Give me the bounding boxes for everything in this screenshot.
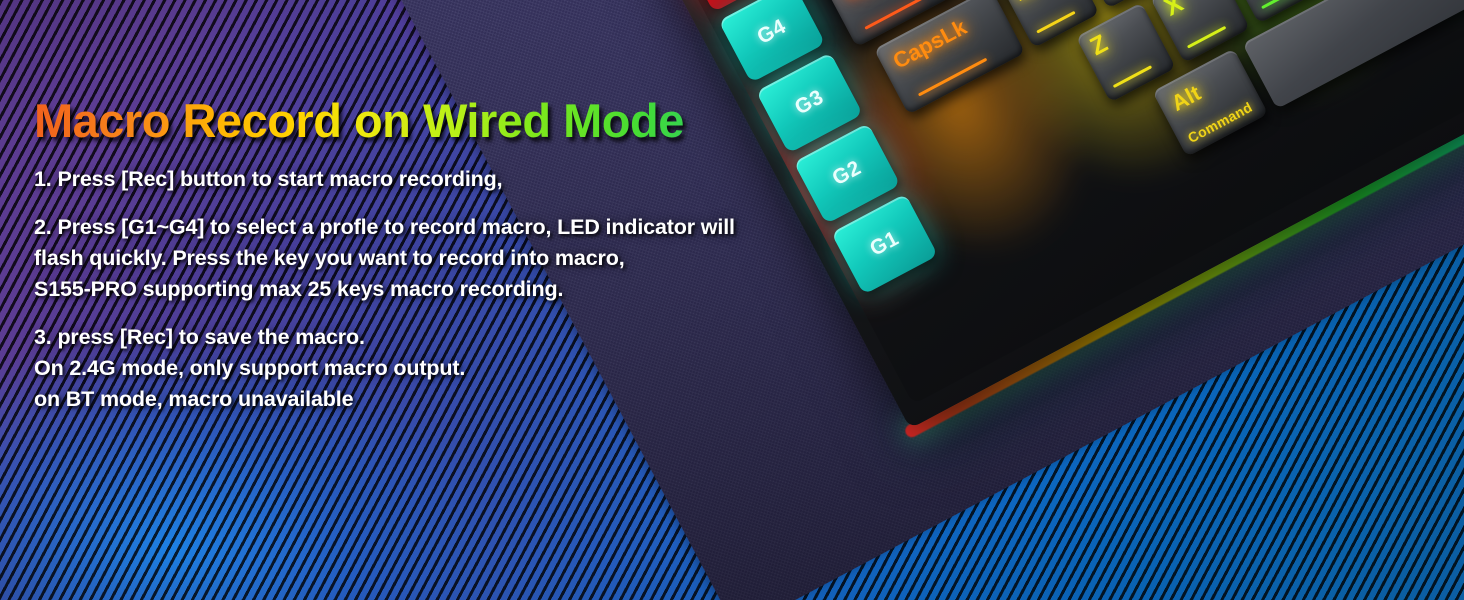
product-banner: Rec G4 G3 G2 G1 ☀ M C→ ☀ ◉▼ Esc ↺ 1! ☀ F… (0, 0, 1464, 600)
key-z-label: Z (1087, 31, 1112, 60)
step-1-line-1: 1. Press [Rec] button to start macro rec… (34, 164, 734, 195)
key-x-label: X (1161, 0, 1187, 21)
instruction-step-2: 2. Press [G1~G4] to select a profle to r… (34, 212, 734, 305)
step-3-line-1: 3. press [Rec] to save the macro. (34, 322, 734, 353)
step-3-line-3: on BT mode, macro unavailable (34, 384, 734, 415)
marketing-copy: Macro Record on Wired Mode 1. Press [Rec… (34, 96, 734, 432)
key-alt-label: Alt (1167, 80, 1205, 117)
page-title: Macro Record on Wired Mode (34, 96, 734, 145)
instruction-step-1: 1. Press [Rec] button to start macro rec… (34, 164, 734, 195)
instruction-step-3: 3. press [Rec] to save the macro. On 2.4… (34, 322, 734, 415)
step-2-line-1: 2. Press [G1~G4] to select a profle to r… (34, 212, 734, 243)
step-3-line-2: On 2.4G mode, only support macro output. (34, 353, 734, 384)
step-2-line-3: S155-PRO supporting max 25 keys macro re… (34, 274, 734, 305)
instruction-steps: 1. Press [Rec] button to start macro rec… (34, 164, 734, 415)
key-a-label: A (1010, 0, 1038, 6)
step-2-line-2: flash quickly. Press the key you want to… (34, 243, 734, 274)
key-tab-label: Tab (837, 0, 882, 7)
